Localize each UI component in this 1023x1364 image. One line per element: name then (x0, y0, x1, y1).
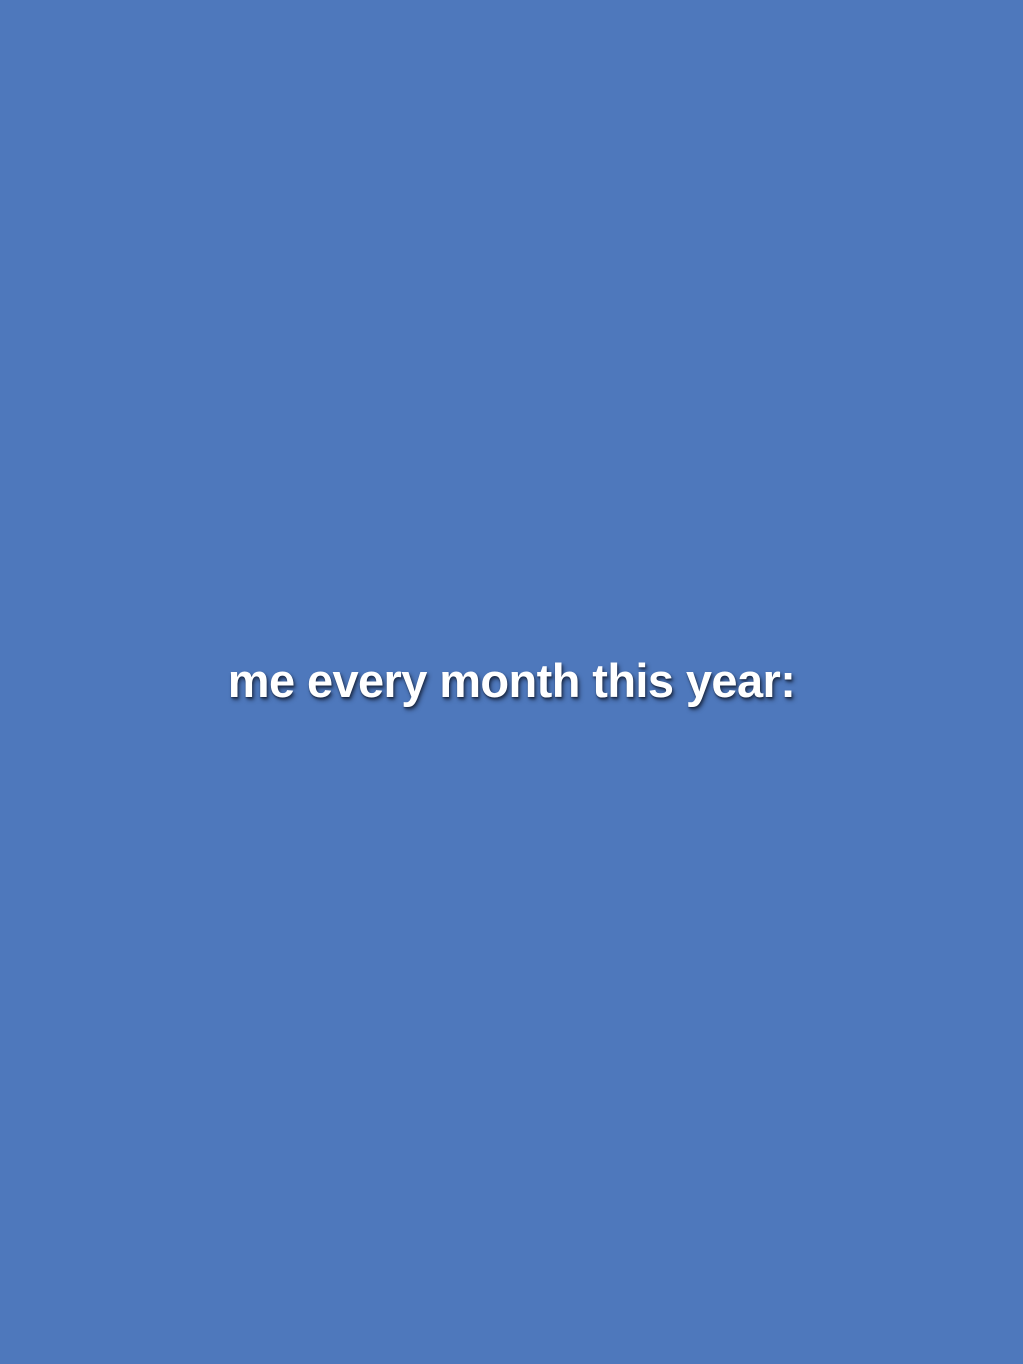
caption-layer: me every month this year: (0, 0, 1023, 1364)
caption-text: me every month this year: (228, 655, 796, 707)
meme-canvas: me every month this year: (0, 0, 1023, 1364)
